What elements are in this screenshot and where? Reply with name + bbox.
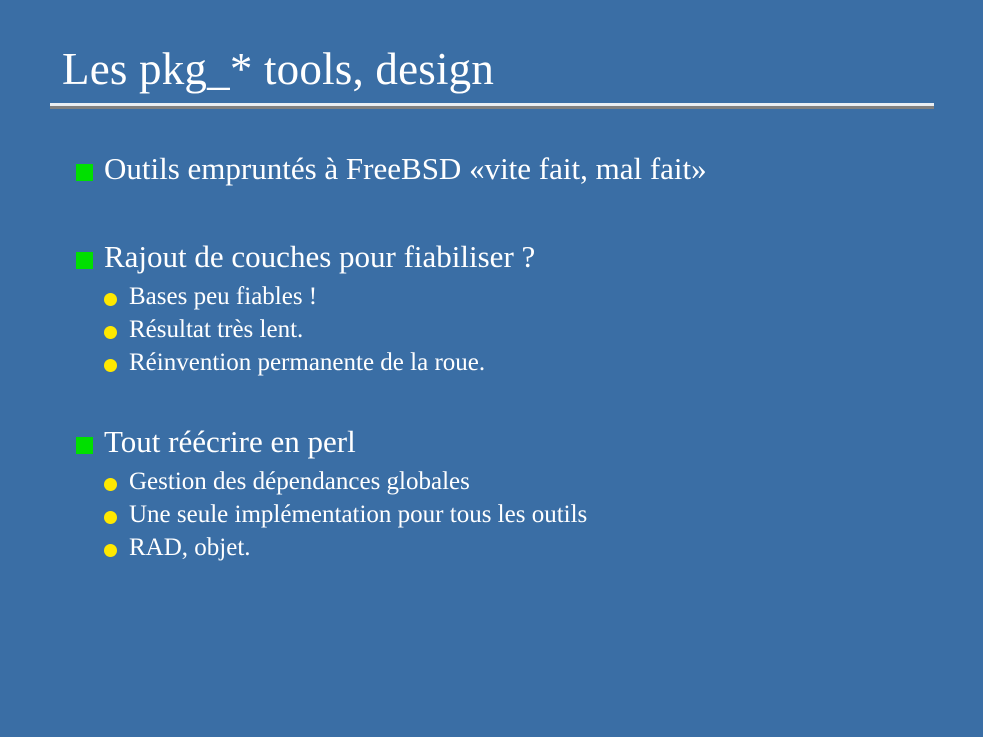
list-item-label: Tout réécrire en perl: [104, 424, 356, 459]
green-square-bullet-icon: [76, 164, 93, 181]
list-item: Rajout de couches pour fiabiliser ?: [0, 238, 983, 276]
list-item: Réinvention permanente de la roue.: [0, 346, 983, 379]
green-square-bullet-icon: [76, 252, 93, 269]
slide-content-list: Outils empruntés à FreeBSD «vite fait, m…: [0, 150, 983, 564]
list-item: RAD, objet.: [0, 531, 983, 564]
page-title: Les pkg_* tools, design: [62, 46, 494, 93]
list-item-label: Bases peu fiables !: [129, 283, 317, 310]
yellow-dot-bullet-icon: [104, 544, 117, 557]
list-item: Une seule implémentation pour tous les o…: [0, 498, 983, 531]
spacer: [0, 379, 983, 423]
yellow-dot-bullet-icon: [104, 359, 117, 372]
yellow-dot-bullet-icon: [104, 511, 117, 524]
list-item-label: Une seule implémentation pour tous les o…: [129, 501, 587, 528]
presentation-slide: Les pkg_* tools, design Outils empruntés…: [0, 0, 983, 737]
green-square-bullet-icon: [76, 437, 93, 454]
yellow-dot-bullet-icon: [104, 293, 117, 306]
spacer: [0, 188, 983, 238]
list-item-label: Réinvention permanente de la roue.: [129, 349, 485, 376]
yellow-dot-bullet-icon: [104, 478, 117, 491]
list-item: Tout réécrire en perl: [0, 423, 983, 461]
title-divider: [50, 103, 934, 109]
list-item-label: Résultat très lent.: [129, 316, 303, 343]
title-divider-shadow: [50, 106, 934, 109]
list-item: Gestion des dépendances globales: [0, 465, 983, 498]
list-item-label: RAD, objet.: [129, 534, 251, 561]
list-item: Bases peu fiables !: [0, 280, 983, 313]
list-item-label: Gestion des dépendances globales: [129, 468, 470, 495]
list-item: Outils empruntés à FreeBSD «vite fait, m…: [0, 150, 983, 188]
list-item: Résultat très lent.: [0, 313, 983, 346]
yellow-dot-bullet-icon: [104, 326, 117, 339]
list-item-label: Outils empruntés à FreeBSD «vite fait, m…: [104, 151, 707, 186]
list-item-label: Rajout de couches pour fiabiliser ?: [104, 239, 535, 274]
